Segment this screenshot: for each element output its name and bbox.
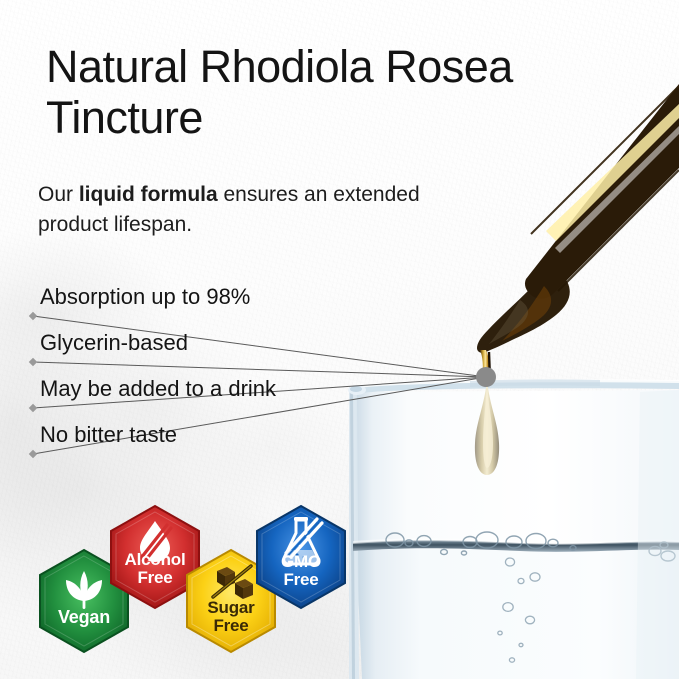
badge-gmo-free: GMO Free [253, 503, 349, 611]
certification-badges: Vegan [0, 0, 679, 679]
product-infographic: Natural Rhodiola Rosea Tincture Our liqu… [0, 0, 679, 679]
badge-gmo-free-label: GMO Free [253, 553, 349, 588]
